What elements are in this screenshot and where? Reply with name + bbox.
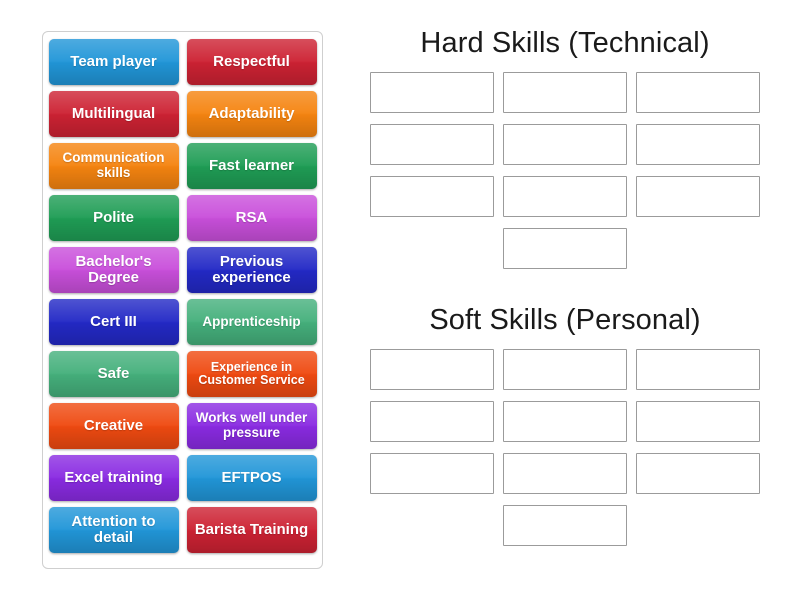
skill-tile-label: Bachelor's Degree [53, 254, 175, 286]
skill-tile[interactable]: RSA [187, 195, 317, 241]
skill-tile[interactable]: Excel training [49, 455, 179, 501]
drop-slot[interactable] [503, 505, 627, 546]
skill-tile-label: Respectful [213, 54, 290, 70]
hard-skills-heading: Hard Skills (Technical) [350, 28, 780, 60]
skill-tile-label: Barista Training [195, 522, 308, 538]
drop-zone-hard-skills: Hard Skills (Technical) [350, 28, 780, 269]
skill-tile[interactable]: Respectful [187, 39, 317, 85]
skill-tile-label: Attention to detail [53, 514, 175, 546]
drop-slot[interactable] [370, 453, 494, 494]
skill-tile[interactable]: Barista Training [187, 507, 317, 553]
drop-slot[interactable] [636, 349, 760, 390]
skill-tile-label: Team player [70, 54, 156, 70]
skill-tile-label: Experience in Customer Service [191, 361, 313, 388]
hard-skills-slot-grid [350, 72, 780, 269]
skill-tile[interactable]: Fast learner [187, 143, 317, 189]
skill-tile-label: Cert III [90, 314, 137, 330]
drop-slot[interactable] [503, 401, 627, 442]
skill-tile-grid: Team playerRespectfulMultilingualAdaptab… [49, 39, 316, 553]
activity-stage: Team playerRespectfulMultilingualAdaptab… [0, 0, 800, 600]
skill-tile[interactable]: Multilingual [49, 91, 179, 137]
skill-tile[interactable]: Apprenticeship [187, 299, 317, 345]
drop-slot[interactable] [503, 349, 627, 390]
drop-slot[interactable] [370, 349, 494, 390]
drop-slot[interactable] [636, 401, 760, 442]
skill-tile-label: Previous experience [191, 254, 313, 286]
drop-slot[interactable] [636, 72, 760, 113]
skill-tile[interactable]: Adaptability [187, 91, 317, 137]
skill-tile[interactable]: Cert III [49, 299, 179, 345]
soft-skills-heading: Soft Skills (Personal) [350, 305, 780, 337]
skill-tile[interactable]: Experience in Customer Service [187, 351, 317, 397]
skill-tile-label: Fast learner [209, 158, 294, 174]
drop-slot[interactable] [370, 176, 494, 217]
drop-slot[interactable] [503, 453, 627, 494]
drop-slot[interactable] [503, 72, 627, 113]
skill-tile-label: Adaptability [209, 106, 295, 122]
skill-tile-label: Multilingual [72, 106, 155, 122]
skill-tile-label: Excel training [64, 470, 162, 486]
skill-tile-label: EFTPOS [221, 470, 281, 486]
drop-slot[interactable] [370, 124, 494, 165]
skill-tile[interactable]: Works well under pressure [187, 403, 317, 449]
skill-tile-label: Apprenticeship [202, 315, 300, 330]
drop-slot[interactable] [636, 124, 760, 165]
drop-zone-soft-skills: Soft Skills (Personal) [350, 305, 780, 546]
skill-tile-label: Safe [98, 366, 130, 382]
skill-tile[interactable]: Attention to detail [49, 507, 179, 553]
skill-tile[interactable]: Team player [49, 39, 179, 85]
skill-tile[interactable]: Communication skills [49, 143, 179, 189]
drop-slot[interactable] [503, 228, 627, 269]
skill-tile-label: RSA [236, 210, 268, 226]
skill-tile-label: Creative [84, 418, 143, 434]
skill-tile[interactable]: Polite [49, 195, 179, 241]
skill-tile-label: Polite [93, 210, 134, 226]
skill-tile[interactable]: EFTPOS [187, 455, 317, 501]
soft-skills-slot-grid [350, 349, 780, 546]
skill-tile-label: Communication skills [53, 151, 175, 180]
drop-slot[interactable] [503, 176, 627, 217]
drop-slot[interactable] [503, 124, 627, 165]
drop-slot[interactable] [370, 72, 494, 113]
skill-tile[interactable]: Bachelor's Degree [49, 247, 179, 293]
skill-tile-bank: Team playerRespectfulMultilingualAdaptab… [42, 31, 323, 569]
drop-slot[interactable] [636, 176, 760, 217]
skill-tile[interactable]: Safe [49, 351, 179, 397]
drop-slot[interactable] [636, 453, 760, 494]
skill-tile[interactable]: Previous experience [187, 247, 317, 293]
skill-tile-label: Works well under pressure [191, 411, 313, 440]
drop-slot[interactable] [370, 401, 494, 442]
skill-tile[interactable]: Creative [49, 403, 179, 449]
